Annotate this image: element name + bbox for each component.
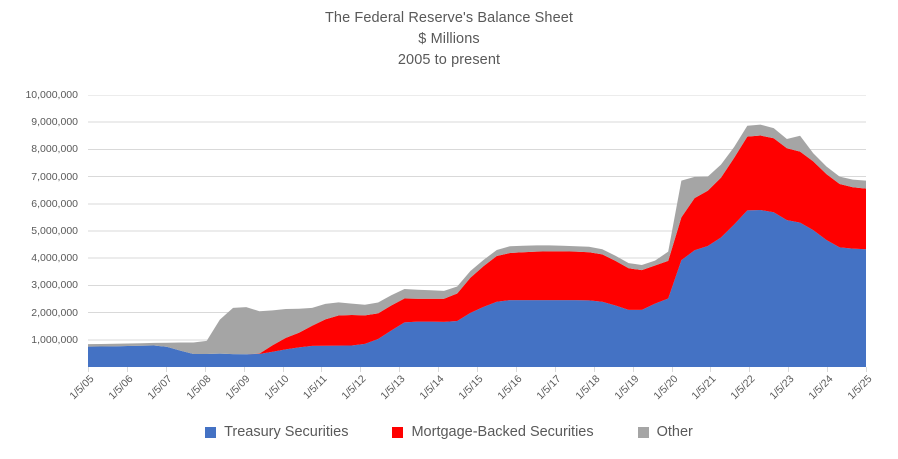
x-axis-tick-label: 1/5/12: [329, 373, 369, 413]
x-axis-tick-mark: [749, 367, 750, 372]
x-axis-tick-label: 1/5/21: [679, 373, 719, 413]
chart-legend: Treasury SecuritiesMortgage-Backed Secur…: [0, 424, 898, 440]
chart-title-line-2: $ Millions: [0, 29, 898, 50]
x-axis-tick-label: 1/5/09: [212, 373, 252, 413]
legend-item[interactable]: Mortgage-Backed Securities: [392, 424, 593, 440]
x-axis-tick-label: 1/5/19: [601, 373, 641, 413]
y-axis-tick-label: 1,000,000: [0, 334, 78, 346]
x-axis-tick-label: 1/5/16: [485, 373, 525, 413]
x-axis-tick-mark: [438, 367, 439, 372]
legend-item[interactable]: Treasury Securities: [205, 424, 348, 440]
x-axis-tick-mark: [244, 367, 245, 372]
x-axis-tick-mark: [127, 367, 128, 372]
x-axis: 1/5/051/5/061/5/071/5/081/5/091/5/101/5/…: [88, 367, 866, 427]
legend-swatch-other: [638, 427, 649, 438]
x-axis-tick-mark: [516, 367, 517, 372]
y-axis-tick-label: 3,000,000: [0, 279, 78, 291]
y-axis-tick-label: 2,000,000: [0, 307, 78, 319]
x-axis-tick-mark: [205, 367, 206, 372]
y-axis-tick-label: 8,000,000: [0, 143, 78, 155]
x-axis-tick-label: 1/5/18: [563, 373, 603, 413]
area-series-group: [88, 125, 866, 367]
legend-swatch-treasury: [205, 427, 216, 438]
stacked-area-chart-svg: [88, 95, 866, 367]
y-axis-tick-label: 5,000,000: [0, 225, 78, 237]
x-axis-tick-label: 1/5/06: [96, 373, 136, 413]
x-axis-tick-mark: [360, 367, 361, 372]
x-axis-tick-label: 1/5/25: [835, 373, 875, 413]
x-axis-tick-mark: [866, 367, 867, 372]
x-axis-tick-mark: [399, 367, 400, 372]
x-axis-tick-mark: [788, 367, 789, 372]
x-axis-tick-mark: [88, 367, 89, 372]
x-axis-tick-label: 1/5/23: [757, 373, 797, 413]
x-axis-tick-mark: [555, 367, 556, 372]
x-axis-tick-mark: [594, 367, 595, 372]
x-axis-tick-label: 1/5/15: [446, 373, 486, 413]
y-axis-tick-label: 9,000,000: [0, 116, 78, 128]
y-axis: 10,000,0009,000,0008,000,0007,000,0006,0…: [0, 95, 78, 367]
x-axis-tick-mark: [710, 367, 711, 372]
chart-title: The Federal Reserve's Balance Sheet $ Mi…: [0, 8, 898, 71]
x-axis-tick-label: 1/5/08: [174, 373, 214, 413]
y-axis-tick-label: 4,000,000: [0, 252, 78, 264]
chart-container: The Federal Reserve's Balance Sheet $ Mi…: [0, 0, 898, 459]
x-axis-tick-label: 1/5/20: [640, 373, 680, 413]
legend-item[interactable]: Other: [638, 424, 693, 440]
x-axis-tick-label: 1/5/17: [524, 373, 564, 413]
plot-area: [88, 95, 866, 367]
x-axis-tick-mark: [633, 367, 634, 372]
chart-title-line-1: The Federal Reserve's Balance Sheet: [0, 8, 898, 29]
chart-title-line-3: 2005 to present: [0, 50, 898, 71]
x-axis-tick-mark: [321, 367, 322, 372]
x-axis-tick-mark: [477, 367, 478, 372]
y-axis-tick-label: 10,000,000: [0, 89, 78, 101]
x-axis-tick-label: 1/5/05: [57, 373, 97, 413]
x-axis-tick-label: 1/5/07: [135, 373, 175, 413]
x-axis-tick-label: 1/5/14: [407, 373, 447, 413]
legend-swatch-mbs: [392, 427, 403, 438]
x-axis-tick-mark: [166, 367, 167, 372]
x-axis-tick-label: 1/5/13: [368, 373, 408, 413]
x-axis-tick-mark: [283, 367, 284, 372]
legend-item-label: Other: [657, 424, 693, 440]
y-axis-tick-label: 6,000,000: [0, 198, 78, 210]
x-axis-tick-label: 1/5/11: [290, 373, 330, 413]
x-axis-tick-label: 1/5/24: [796, 373, 836, 413]
x-axis-tick-label: 1/5/10: [251, 373, 291, 413]
x-axis-tick-mark: [827, 367, 828, 372]
x-axis-tick-mark: [672, 367, 673, 372]
y-axis-tick-label: 7,000,000: [0, 171, 78, 183]
x-axis-tick-label: 1/5/22: [718, 373, 758, 413]
legend-item-label: Mortgage-Backed Securities: [411, 424, 593, 440]
legend-item-label: Treasury Securities: [224, 424, 348, 440]
